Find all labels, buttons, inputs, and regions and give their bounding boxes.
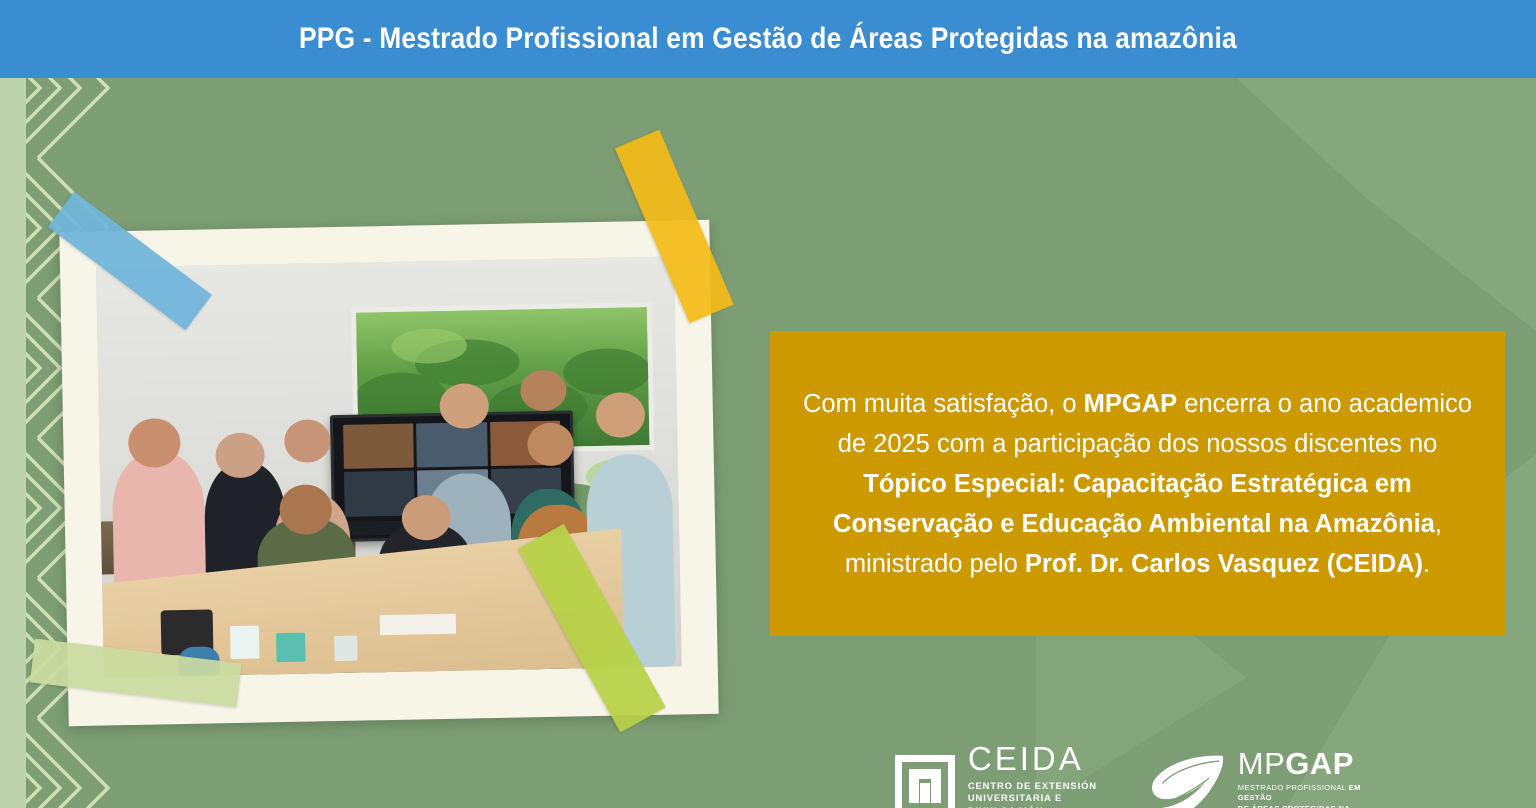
announcement-text: Com muita satisfação, o MPGAP encerra o … bbox=[770, 384, 1505, 584]
ceida-bar-3 bbox=[931, 773, 941, 803]
mpgap-tagline-light: MESTRADO PROFISSIONAL bbox=[1238, 783, 1349, 792]
mpgap-tagline-line-2: DE ÁREAS PROTEGIDAS NA AMAZÔNIA bbox=[1238, 804, 1375, 808]
poster-canvas: PPG - Mestrado Profissional em Gestão de… bbox=[0, 0, 1536, 808]
mpgap-tagline: MESTRADO PROFISSIONAL EM GESTÃO DE ÁREAS… bbox=[1238, 783, 1375, 808]
announcement-professor: Prof. Dr. Carlos Vasquez (CEIDA) bbox=[1025, 550, 1423, 578]
mpgap-tagline-line-1: MESTRADO PROFISSIONAL EM GESTÃO bbox=[1238, 783, 1375, 804]
mpgap-name: MPGAP bbox=[1238, 748, 1375, 779]
mpgap-wordmark: MPGAP MESTRADO PROFISSIONAL EM GESTÃO DE… bbox=[1238, 748, 1375, 808]
mpgap-name-light: MP bbox=[1238, 746, 1286, 781]
mpgap-name-heavy: GAP bbox=[1285, 746, 1354, 781]
logo-row: CEIDA CENTRO DE EXTENSIÓN UNIVERSITARIA … bbox=[895, 726, 1375, 808]
announcement-period: . bbox=[1423, 550, 1430, 578]
announcement-mpgap: MPGAP bbox=[1084, 390, 1178, 418]
announcement-box: Com muita satisfação, o MPGAP encerra o … bbox=[770, 331, 1505, 636]
pale-green-band bbox=[0, 78, 26, 808]
page-title: PPG - Mestrado Profissional em Gestão de… bbox=[299, 22, 1237, 56]
ceida-tagline-line-2: UNIVERSITARIA E DIVULGACIÓN bbox=[968, 792, 1113, 808]
ceida-mark-icon bbox=[895, 755, 955, 808]
ceida-tagline: CENTRO DE EXTENSIÓN UNIVERSITARIA E DIVU… bbox=[968, 780, 1113, 808]
ceida-wordmark: CEIDA CENTRO DE EXTENSIÓN UNIVERSITARIA … bbox=[968, 742, 1113, 808]
ceida-name: CEIDA bbox=[968, 742, 1113, 775]
ceida-bar-2 bbox=[920, 783, 930, 803]
leaf-icon bbox=[1147, 743, 1230, 808]
poster-background: Com muita satisfação, o MPGAP encerra o … bbox=[0, 78, 1536, 808]
announcement-course-title: Tópico Especial: Capacitação Estratégica… bbox=[833, 470, 1435, 538]
ceida-logo: CEIDA CENTRO DE EXTENSIÓN UNIVERSITARIA … bbox=[895, 742, 1113, 808]
group-photo bbox=[59, 220, 718, 726]
ceida-bar-1 bbox=[909, 773, 919, 803]
header-bar: PPG - Mestrado Profissional em Gestão de… bbox=[0, 0, 1536, 78]
announcement-part-1: Com muita satisfação, o bbox=[803, 390, 1084, 418]
mpgap-logo: MPGAP MESTRADO PROFISSIONAL EM GESTÃO DE… bbox=[1147, 743, 1375, 808]
ceida-tagline-line-1: CENTRO DE EXTENSIÓN bbox=[968, 780, 1113, 793]
